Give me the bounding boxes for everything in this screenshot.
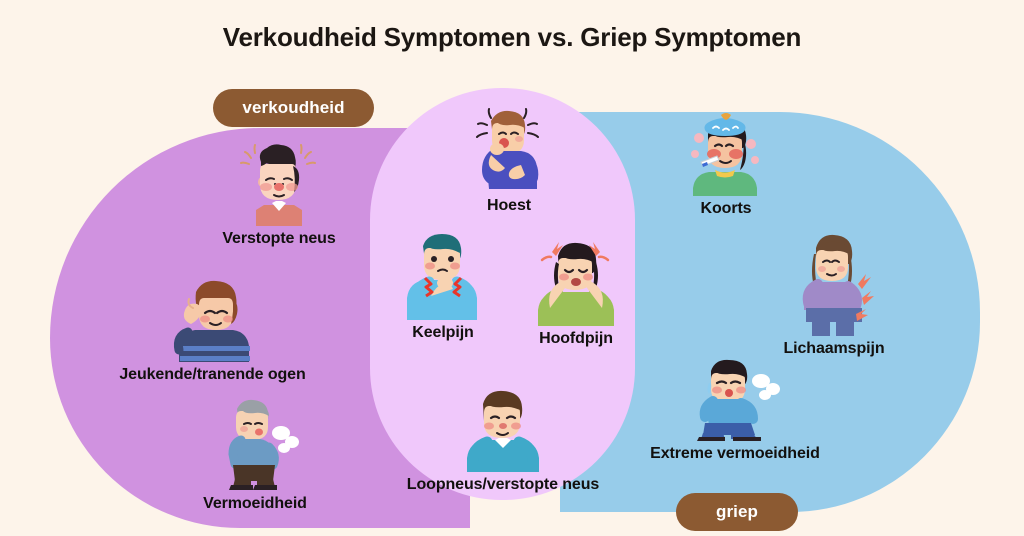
symptom-label: Loopneus/verstopte neus: [388, 476, 618, 494]
symptom-item-itchy-eyes: Jeukende/tranende ogen: [100, 272, 325, 384]
badge-griep-label: griep: [716, 502, 758, 522]
body-ache-woman-icon: [744, 228, 924, 336]
badge-verkoudheid-label: verkoudheid: [242, 98, 344, 118]
symptom-item-fever: Koorts: [648, 104, 804, 218]
badge-verkoudheid: verkoudheid: [213, 89, 374, 127]
symptom-label: Jeukende/tranende ogen: [100, 366, 325, 384]
headache-woman-icon: [522, 234, 630, 326]
coughing-man-icon: [428, 103, 590, 193]
symptom-label: Hoofdpijn: [522, 330, 630, 348]
page-title: Verkoudheid Symptomen vs. Griep Symptome…: [0, 22, 1024, 53]
exhausted-boy-icon: [635, 355, 835, 441]
symptom-item-fatigue: Vermoeidheid: [155, 395, 355, 513]
symptom-label: Verstopte neus: [178, 230, 380, 248]
symptom-item-body-ache: Lichaamspijn: [744, 228, 924, 358]
symptom-item-cough: Hoest: [428, 103, 590, 215]
symptom-label: Koorts: [648, 200, 804, 218]
symptom-item-runny-nose: Loopneus/verstopte neus: [388, 384, 618, 494]
symptom-item-extreme-fatigue: Extreme vermoeidheid: [635, 355, 835, 463]
itchy-watery-eyes-icon: [100, 272, 325, 362]
symptom-label: Hoest: [428, 197, 590, 215]
stuffy-nose-girl-icon: [178, 140, 380, 226]
infographic-canvas: Verkoudheid Symptomen vs. Griep Symptome…: [0, 0, 1024, 536]
badge-griep: griep: [676, 493, 798, 531]
tired-man-icon: [155, 395, 355, 491]
symptom-label: Vermoeidheid: [155, 495, 355, 513]
symptom-label: Extreme vermoeidheid: [635, 445, 835, 463]
symptom-item-sore-throat: Keelpijn: [390, 226, 496, 342]
symptom-item-stuffy-nose: Verstopte neus: [178, 140, 380, 248]
fever-thermometer-icon: [648, 104, 804, 196]
runny-nose-boy-icon: [388, 384, 618, 472]
symptom-item-headache: Hoofdpijn: [522, 234, 630, 348]
sore-throat-boy-icon: [390, 226, 496, 320]
symptom-label: Keelpijn: [390, 324, 496, 342]
